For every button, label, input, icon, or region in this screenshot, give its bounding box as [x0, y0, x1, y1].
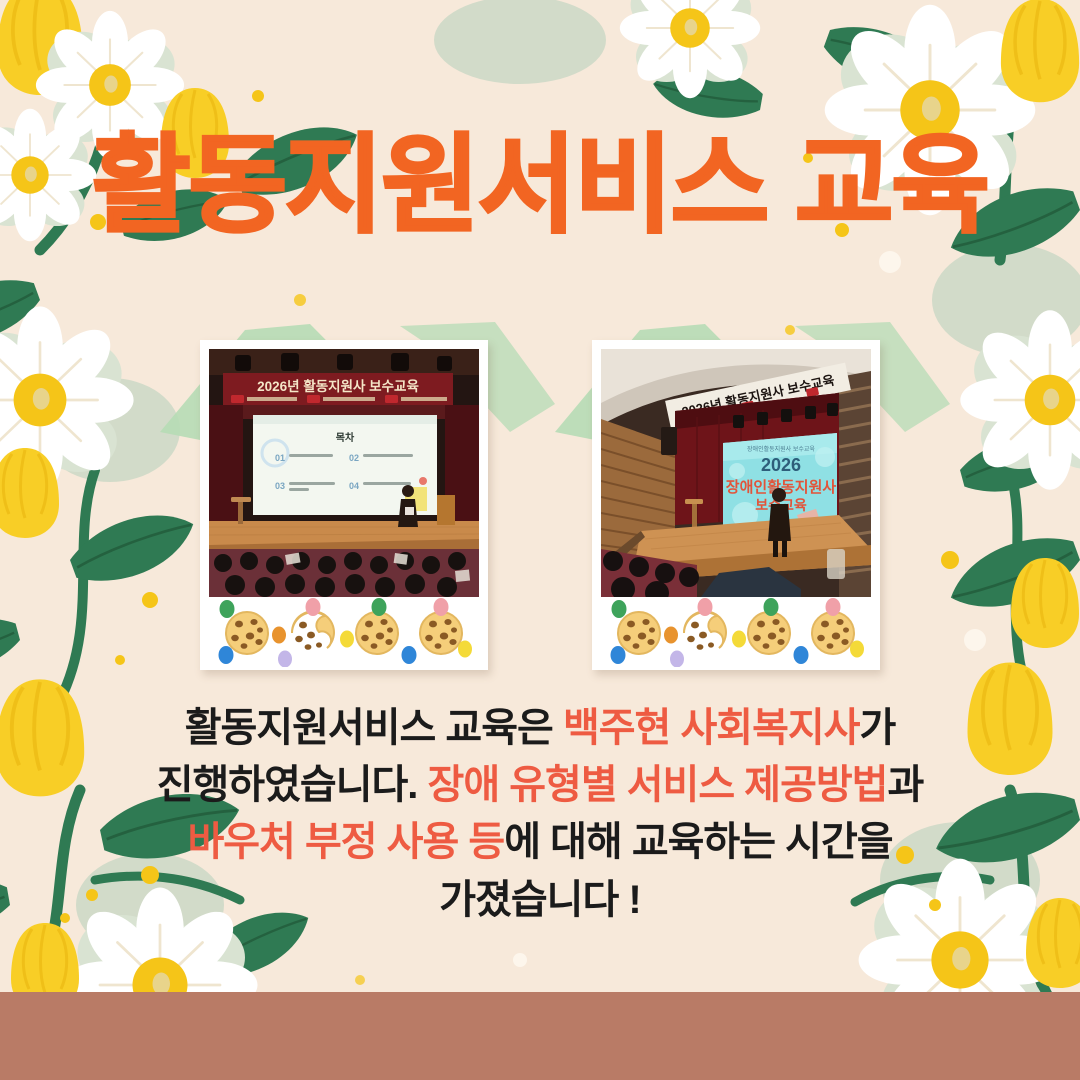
svg-text:2026년 활동지원사 보수교육: 2026년 활동지원사 보수교육 — [257, 378, 419, 394]
body-line: 진행하였습니다. 장애 유형별 서비스 제공방법과 — [60, 757, 1020, 814]
plain-text: 진행하였습니다. — [157, 763, 428, 807]
plain-text: 가졌습니다 ! — [439, 878, 640, 922]
photo-image-1: 2026년 활동지원사 보수교육 — [209, 349, 479, 597]
svg-text:목차: 목차 — [336, 431, 355, 444]
poster-root: 활동지원서비스 교육 — [0, 0, 1080, 1080]
svg-text:장애인활동지원사 보수교육: 장애인활동지원사 보수교육 — [747, 445, 815, 453]
svg-text:01: 01 — [275, 453, 285, 463]
photo-card-2[interactable]: 2026년 활동지원사 보수교육 — [592, 340, 880, 670]
body-paragraph: 활동지원서비스 교육은 백주현 사회복지사가 진행하였습니다. 장애 유형별 서… — [60, 700, 1020, 929]
cookie-strip-1 — [209, 597, 479, 667]
plain-text: 가 — [859, 706, 895, 750]
bottom-bar — [0, 992, 1080, 1080]
body-line: 활동지원서비스 교육은 백주현 사회복지사가 — [60, 700, 1020, 757]
accent-text: 백주현 사회복지사 — [563, 706, 860, 750]
body-line: 바우처 부정 사용 등에 대해 교육하는 시간을 — [60, 814, 1020, 871]
body-line: 가졌습니다 ! — [60, 872, 1020, 929]
svg-text:03: 03 — [275, 481, 285, 491]
accent-text: 바우처 부정 사용 등 — [187, 820, 504, 864]
accent-text: 장애 유형별 서비스 제공방법 — [428, 763, 888, 807]
plain-text: 과 — [887, 763, 923, 807]
cookie-strip-2 — [601, 597, 871, 667]
photo-card-1[interactable]: 2026년 활동지원사 보수교육 — [200, 340, 488, 670]
plain-text: 활동지원서비스 교육은 — [185, 706, 563, 750]
page-title: 활동지원서비스 교육 — [92, 128, 988, 244]
svg-text:04: 04 — [349, 481, 359, 491]
photo-image-2: 2026년 활동지원사 보수교육 — [601, 349, 871, 597]
svg-text:02: 02 — [349, 453, 359, 463]
svg-text:2026: 2026 — [761, 455, 801, 475]
plain-text: 에 대해 교육하는 시간을 — [504, 820, 892, 864]
photo-gallery: 2026년 활동지원사 보수교육 — [0, 312, 1080, 682]
page-title-wrap: 활동지원서비스 교육 — [0, 128, 1080, 244]
